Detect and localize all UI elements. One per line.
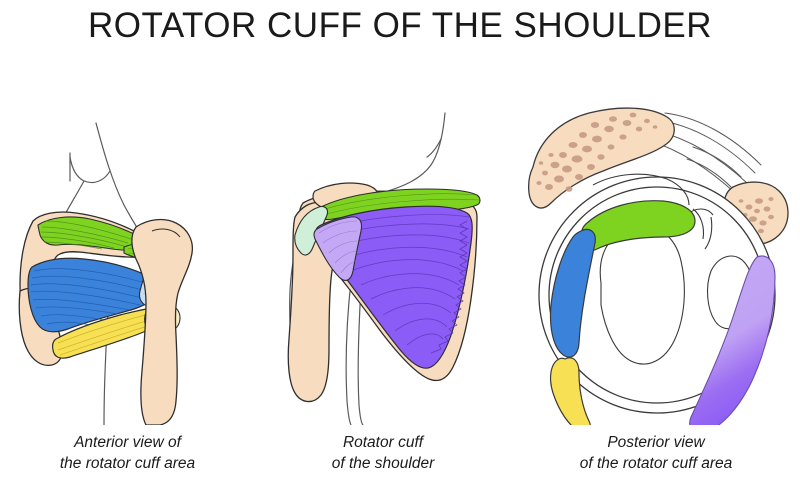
- caption-line: of the rotator cuff area: [512, 453, 800, 474]
- caption-anterior: Anterior view of the rotator cuff area: [0, 432, 255, 474]
- caption-line: Anterior view of: [0, 432, 255, 453]
- caption-rotator: Rotator cuff of the shoulder: [258, 432, 508, 474]
- caption-line: Posterior view: [512, 432, 800, 453]
- poster-canvas: ROTATOR CUFF OF THE SHOULDER: [0, 0, 800, 478]
- page-title: ROTATOR CUFF OF THE SHOULDER: [0, 6, 800, 46]
- caption-line: the rotator cuff area: [0, 453, 255, 474]
- caption-line: Rotator cuff: [258, 432, 508, 453]
- caption-posterior: Posterior view of the rotator cuff area: [512, 432, 800, 474]
- rotator-cuff-illustration: [255, 95, 510, 425]
- anterior-view-illustration: [0, 95, 250, 425]
- caption-line: of the shoulder: [258, 453, 508, 474]
- posterior-cross-section-illustration: [505, 95, 800, 425]
